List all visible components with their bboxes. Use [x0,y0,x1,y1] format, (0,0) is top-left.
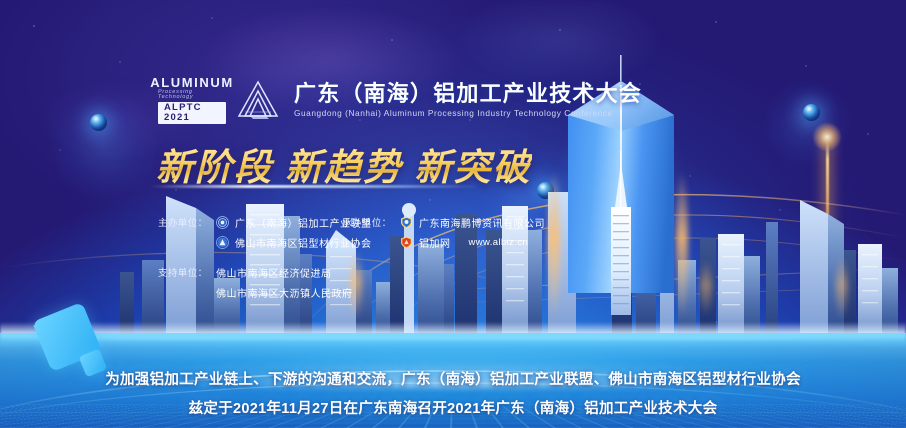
undertaker-row-2: 承办单位： 铝加网 www.albiz.cn [342,232,545,252]
alliance-seal-icon [216,216,229,229]
undertaker-name-1: 广东南海鹏博资讯有限公司 [419,215,545,230]
banner-line-2: 兹定于2021年11月27日在广东南海召开2021年广东（南海）铝加工产业技术大… [189,397,718,418]
undertaker-row-1: 承办单位： 广东南海鹏博资讯有限公司 [342,212,545,232]
association-seal-icon [216,236,229,249]
bottom-banner: 为加强铝加工产业链上、下游的沟通和交流，广东（南海）铝加工产业联盟、佛山市南海区… [0,358,906,428]
undertaker-name-2: 铝加网 [419,235,451,250]
support-name-2: 佛山市南海区大沥镇人民政府 [216,285,353,300]
organizer-left-column: 主办单位： 广东（南海）铝加工产业联盟 主办单位： 佛山市南海区铝型材行业协会 … [158,212,372,302]
page-title: 广东（南海）铝加工产业技术大会 [294,82,642,107]
badge-processing-technology-text: Processing Technology [158,90,226,101]
slogan-underline [150,185,480,188]
albiz-website-url[interactable]: www.albiz.cn [469,237,529,248]
title-block: 广东（南海）铝加工产业技术大会 Guangdong (Nanhai) Alumi… [294,82,642,118]
glow-sphere-left [90,114,107,131]
city-skyline [0,186,906,336]
page-subtitle-en: Guangdong (Nanhai) Aluminum Processing I… [294,109,642,118]
badge-aluminum-text: ALUMINUM [150,76,234,89]
host-label: 主办单位： [158,215,210,229]
support-row-2: 支持单位： 佛山市南海区大沥镇人民政府 [158,282,372,302]
badge-alptc-year-text: ALPTC 2021 [158,102,226,124]
undertaker-label: 承办单位： [342,215,394,229]
slogan-text: 新阶段 新趋势 新突破 [156,137,532,191]
albiz-shield-icon [400,236,413,249]
support-label: 支持单位： [158,265,210,279]
organizer-right-column: 承办单位： 广东南海鹏博资讯有限公司 承办单位： 铝加网 www.albiz.c… [342,212,545,252]
host-row-2: 主办单位： 佛山市南海区铝型材行业协会 [158,232,372,252]
conference-poster: ALUMINUM Processing Technology ALPTC 202… [0,0,906,428]
conference-header: ALUMINUM Processing Technology ALPTC 202… [158,78,642,122]
light-streak-head [812,122,842,152]
tower-flare-left [548,170,560,320]
pengbo-shield-icon [400,216,413,229]
sphere-halo-right [762,78,852,168]
banner-line-1: 为加强铝加工产业链上、下游的沟通和交流，广东（南海）铝加工产业联盟、佛山市南海区… [105,368,801,389]
host-row-1: 主办单位： 广东（南海）铝加工产业联盟 [158,212,372,232]
sphere-halo-left [48,88,160,200]
support-row-1: 支持单位： 佛山市南海区经济促进局 [158,262,372,282]
alptc-badge: ALUMINUM Processing Technology ALPTC 202… [158,80,226,120]
glow-sphere-right [803,104,820,121]
city-flare-right [836,256,848,320]
support-name-1: 佛山市南海区经济促进局 [216,265,332,280]
alptc-triangle-mark-icon [236,78,282,122]
